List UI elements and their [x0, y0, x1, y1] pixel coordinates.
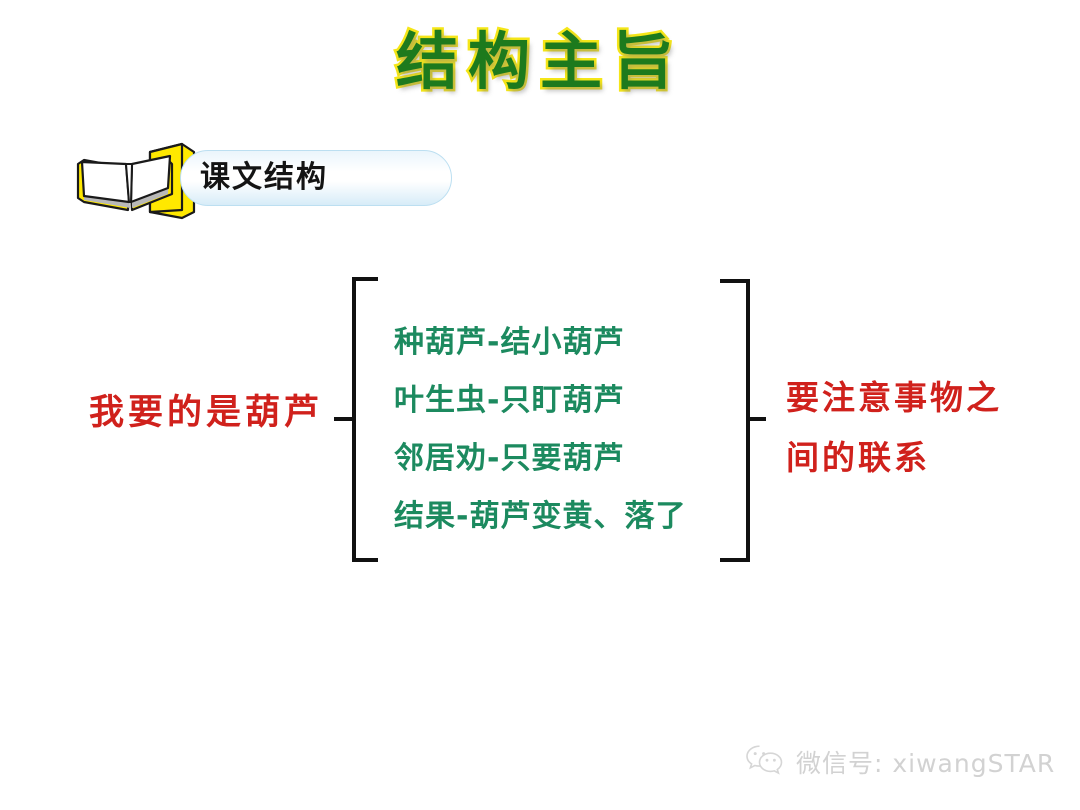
- structure-diagram: 我要的是葫芦 种葫芦-结小葫芦 叶生虫-只盯葫芦 邻居劝-只要葫芦 结果-葫芦变…: [0, 0, 1080, 810]
- diagram-left-term: 我要的是葫芦: [66, 388, 346, 438]
- right-bracket-top-arm: [720, 279, 750, 283]
- list-item: 叶生虫-只盯葫芦: [394, 372, 686, 430]
- list-item: 种葫芦-结小葫芦: [394, 314, 686, 372]
- diagram-right-term-line: 间的联系: [786, 428, 1046, 488]
- right-bracket-tick: [746, 417, 766, 421]
- diagram-right-term-line: 要注意事物之: [786, 368, 1046, 428]
- wechat-icon: [744, 743, 786, 782]
- footer-watermark-text: 微信号: xiwangSTAR: [796, 744, 1055, 780]
- footer-watermark: 微信号: xiwangSTAR: [744, 742, 1055, 782]
- right-bracket-bottom-arm: [720, 558, 750, 562]
- left-bracket-top-arm: [352, 277, 378, 281]
- left-bracket-tick: [334, 417, 354, 421]
- diagram-right-term: 要注意事物之 间的联系: [786, 368, 1046, 488]
- diagram-item-list: 种葫芦-结小葫芦 叶生虫-只盯葫芦 邻居劝-只要葫芦 结果-葫芦变黄、落了: [394, 314, 686, 546]
- left-bracket-bottom-arm: [352, 558, 378, 562]
- list-item: 邻居劝-只要葫芦: [394, 430, 686, 488]
- list-item: 结果-葫芦变黄、落了: [394, 488, 686, 546]
